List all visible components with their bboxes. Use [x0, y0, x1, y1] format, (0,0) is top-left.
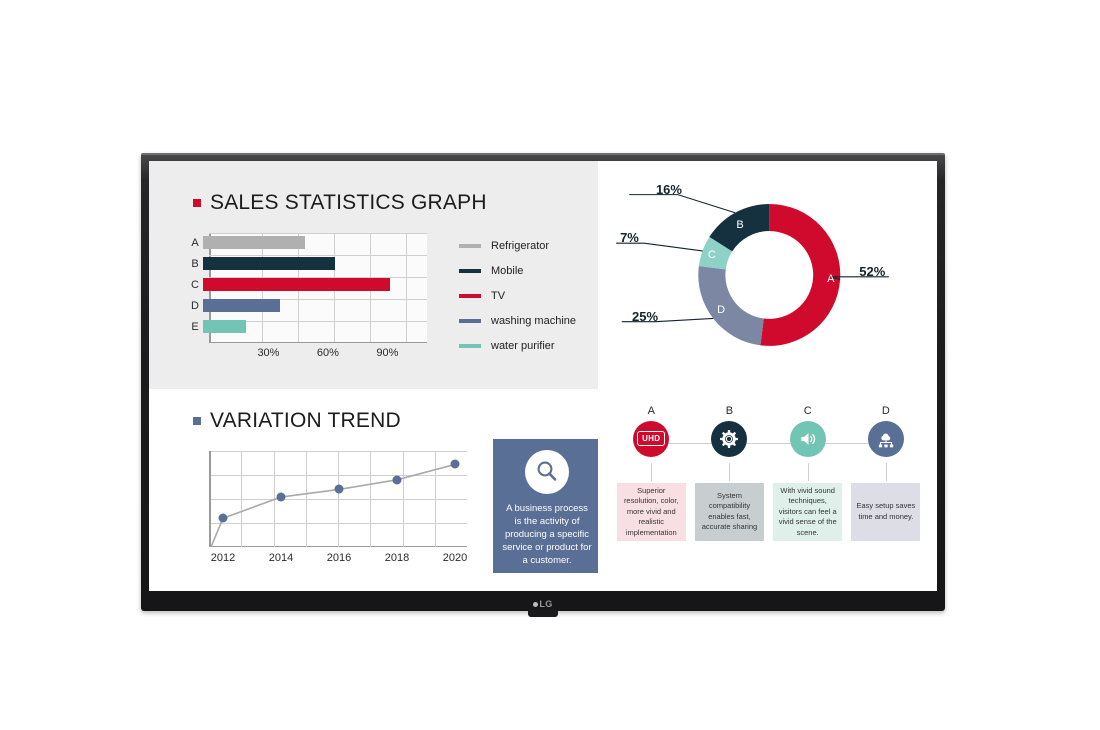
- feature-description-card: System compatibility enables fast, accur…: [695, 483, 764, 541]
- bar-chart-row: B: [187, 254, 427, 274]
- bar-chart-x-axis-labels: 30%60%90%: [209, 345, 427, 361]
- feature-icon-circle[interactable]: [711, 421, 747, 457]
- feature-description-text: Superior resolution, color, more vivid a…: [620, 486, 683, 539]
- gear-icon: [719, 429, 739, 449]
- legend-swatch-icon: [459, 319, 481, 323]
- legend-item: washing machine: [459, 308, 609, 333]
- bar-track: [203, 275, 427, 295]
- lg-logo-dot-icon: [533, 602, 538, 607]
- legend-label: washing machine: [491, 315, 576, 327]
- lg-logo-text: LG: [539, 599, 552, 609]
- line-chart-point: [335, 485, 344, 494]
- donut-slice-letter-a: A: [827, 273, 834, 285]
- donut-value-label-a: 52%: [859, 264, 885, 279]
- feature-items-container: AUHDSuperior resolution, color, more viv…: [612, 405, 925, 583]
- bar-fill: [203, 257, 335, 270]
- bar-category-label: B: [187, 258, 203, 270]
- feature-description-text: Easy setup saves time and money.: [854, 501, 917, 522]
- line-x-tick-label: 2016: [327, 552, 351, 564]
- bar-track: [203, 296, 427, 316]
- legend-swatch-icon: [459, 244, 481, 248]
- line-chart-markers: [209, 451, 467, 547]
- donut-slice-letter-d: D: [717, 304, 725, 316]
- variation-trend-panel: VARIATION TREND: [149, 389, 598, 591]
- line-chart-point: [451, 460, 460, 469]
- magnifier-icon: [525, 450, 569, 494]
- tv-screen: SALES STATISTICS GRAPH: [149, 161, 937, 591]
- feature-vertical-connector: [651, 463, 652, 481]
- legend-label: Refrigerator: [491, 240, 549, 252]
- legend-label: water purifier: [491, 340, 555, 352]
- legend-swatch-icon: [459, 269, 481, 273]
- speaker-icon: [798, 429, 818, 449]
- feature-vertical-connector: [808, 463, 809, 481]
- feature-description-text: With vivid sound techniques, visitors ca…: [776, 486, 839, 539]
- donut-value-label-d: 25%: [632, 309, 658, 324]
- bar-category-label: E: [187, 321, 203, 333]
- legend-item: TV: [459, 283, 609, 308]
- bar-fill: [203, 278, 390, 291]
- bar-chart-legend: RefrigeratorMobileTVwashing machinewater…: [459, 233, 609, 358]
- uhd-badge-icon: UHD: [637, 431, 665, 446]
- legend-item: Refrigerator: [459, 233, 609, 258]
- feature-letter-label: A: [612, 405, 690, 417]
- donut-value-label-b: 16%: [656, 182, 682, 197]
- bar-category-label: C: [187, 279, 203, 291]
- sales-statistics-panel: SALES STATISTICS GRAPH: [149, 161, 598, 389]
- feature-description-card: Superior resolution, color, more vivid a…: [617, 483, 686, 541]
- legend-swatch-icon: [459, 344, 481, 348]
- line-chart-point: [393, 475, 402, 484]
- stand-mount-tab: [528, 610, 558, 617]
- feature-icon-circle[interactable]: [790, 421, 826, 457]
- features-panel: AUHDSuperior resolution, color, more viv…: [598, 389, 937, 591]
- feature-item-a[interactable]: AUHDSuperior resolution, color, more viv…: [612, 405, 690, 583]
- line-x-tick-label: 2014: [269, 552, 293, 564]
- donut-slice-letter-c: C: [708, 249, 716, 261]
- bar-chart-row: C: [187, 275, 427, 295]
- feature-letter-label: D: [847, 405, 925, 417]
- bar-track: [203, 233, 427, 253]
- donut-labels-layer: ABCD52%16%7%25%: [598, 161, 937, 389]
- feature-item-d[interactable]: DEasy setup saves time and money.: [847, 405, 925, 583]
- donut-slice-letter-b: B: [736, 219, 743, 231]
- bar-chart-rows: ABCDE: [187, 233, 427, 343]
- magnifier-glyph: [534, 459, 560, 485]
- feature-description-text: System compatibility enables fast, accur…: [698, 491, 761, 533]
- line-chart-point: [218, 514, 227, 523]
- bar-x-tick-label: 90%: [376, 347, 398, 359]
- legend-label: Mobile: [491, 265, 523, 277]
- section-bullet-icon: [193, 417, 201, 425]
- line-chart-point: [277, 492, 286, 501]
- legend-swatch-icon: [459, 294, 481, 298]
- info-callout-box: A business process is the activity of pr…: [493, 439, 601, 573]
- donut-chart-panel: ABCD52%16%7%25%: [598, 161, 937, 389]
- bar-category-label: D: [187, 300, 203, 312]
- line-x-tick-label: 2018: [385, 552, 409, 564]
- bar-track: [203, 254, 427, 274]
- bar-chart-row: A: [187, 233, 427, 253]
- feature-letter-label: C: [769, 405, 847, 417]
- trend-section-title: VARIATION TREND: [210, 409, 401, 433]
- bar-chart-row: D: [187, 296, 427, 316]
- section-bullet-icon: [193, 199, 201, 207]
- cloud-network-icon: [876, 429, 896, 449]
- legend-label: TV: [491, 290, 505, 302]
- line-x-tick-label: 2020: [443, 552, 467, 564]
- bar-chart-row: E: [187, 317, 427, 337]
- tv-device-frame: SALES STATISTICS GRAPH: [141, 153, 945, 611]
- sales-section-title: SALES STATISTICS GRAPH: [210, 191, 487, 215]
- bar-track: [203, 317, 427, 337]
- bar-fill: [203, 320, 246, 333]
- feature-item-b[interactable]: BSystem compatibility enables fast, accu…: [690, 405, 768, 583]
- feature-icon-circle[interactable]: [868, 421, 904, 457]
- bar-fill: [203, 299, 280, 312]
- feature-description-card: Easy setup saves time and money.: [851, 483, 920, 541]
- donut-value-label-c: 7%: [620, 230, 639, 245]
- legend-item: Mobile: [459, 258, 609, 283]
- line-chart-plot-area: [209, 451, 467, 547]
- sales-section-header: SALES STATISTICS GRAPH: [193, 191, 487, 215]
- feature-icon-circle[interactable]: UHD: [633, 421, 669, 457]
- feature-letter-label: B: [690, 405, 768, 417]
- bar-category-label: A: [187, 237, 203, 249]
- line-x-tick-label: 2012: [211, 552, 235, 564]
- feature-vertical-connector: [886, 463, 887, 481]
- line-chart-x-axis-labels: 20122014201620182020: [209, 549, 467, 569]
- info-callout-text: A business process is the activity of pr…: [493, 494, 601, 567]
- lg-brand-logo: LG: [141, 599, 945, 609]
- bar-x-tick-label: 60%: [317, 347, 339, 359]
- legend-item: water purifier: [459, 333, 609, 358]
- bar-x-tick-label: 30%: [257, 347, 279, 359]
- feature-description-card: With vivid sound techniques, visitors ca…: [773, 483, 842, 541]
- feature-vertical-connector: [729, 463, 730, 481]
- trend-section-header: VARIATION TREND: [193, 409, 401, 433]
- feature-item-c[interactable]: CWith vivid sound techniques, visitors c…: [769, 405, 847, 583]
- line-chart: 20122014201620182020: [209, 451, 467, 569]
- bar-fill: [203, 236, 305, 249]
- bar-chart: ABCDE 30%60%90%: [187, 233, 427, 361]
